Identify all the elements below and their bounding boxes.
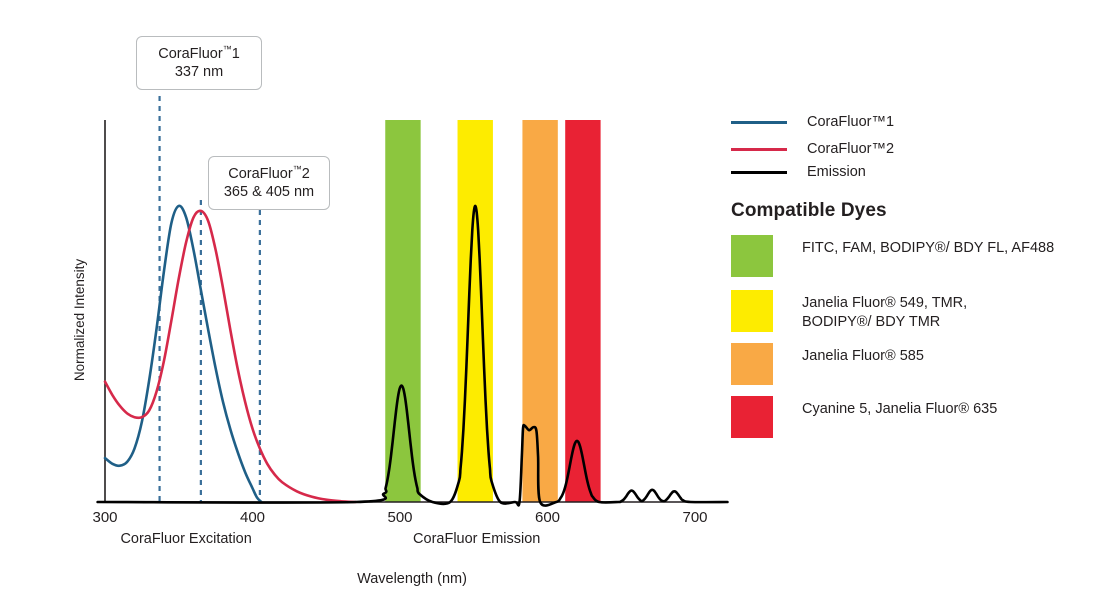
color-swatch-icon bbox=[731, 343, 773, 385]
curve-corafluor2 bbox=[105, 211, 356, 502]
legend-panel: CoraFluor™1 CoraFluor™2 Emission Compati… bbox=[728, 0, 1110, 612]
excitation-region-label: CoraFluor Excitation bbox=[120, 531, 251, 547]
dye-label-line2: BODIPY®/ BDY TMR bbox=[802, 314, 940, 330]
callout1-name: CoraFluor bbox=[158, 46, 222, 62]
legend-label-corafluor1: CoraFluor™1 bbox=[807, 114, 894, 130]
x-tick-400: 400 bbox=[240, 509, 265, 526]
compatible-dyes-title: Compatible Dyes bbox=[731, 200, 887, 222]
trademark-icon: ™ bbox=[223, 44, 232, 54]
dye-label: Janelia Fluor® 585 bbox=[802, 343, 924, 366]
y-axis-title: Normalized Intensity bbox=[72, 259, 87, 382]
red-band bbox=[565, 120, 600, 502]
callout-corafluor1: CoraFluor™1 337 nm bbox=[136, 36, 262, 90]
callout2-name: CoraFluor bbox=[228, 166, 292, 182]
legend-label-corafluor2: CoraFluor™2 bbox=[807, 141, 894, 157]
chart-svg: 300400500600700CoraFluor ExcitationCoraF… bbox=[0, 0, 740, 612]
trademark-icon: ™ bbox=[293, 164, 302, 174]
dye-label: FITC, FAM, BODIPY®/ BDY FL, AF488 bbox=[802, 235, 1054, 258]
callout-corafluor2: CoraFluor™2 365 & 405 nm bbox=[208, 156, 330, 210]
x-tick-300: 300 bbox=[92, 509, 117, 526]
color-swatch-icon bbox=[731, 235, 773, 277]
x-tick-500: 500 bbox=[387, 509, 412, 526]
callout-corafluor1-line2: 337 nm bbox=[149, 63, 249, 81]
callout-corafluor2-line2: 365 & 405 nm bbox=[221, 183, 317, 201]
figure-root: 300400500600700CoraFluor ExcitationCoraF… bbox=[0, 0, 1110, 612]
dye-row: FITC, FAM, BODIPY®/ BDY FL, AF488 bbox=[731, 235, 1054, 277]
x-tick-labels: 300400500600700 bbox=[92, 509, 707, 526]
dye-row: Janelia Fluor® 585 bbox=[731, 343, 924, 385]
legend-label-emission: Emission bbox=[807, 164, 866, 180]
color-swatch-icon bbox=[731, 396, 773, 438]
legend-line-icon bbox=[731, 121, 787, 124]
orange-band bbox=[522, 120, 557, 502]
dye-label-line1: Cyanine 5, Janelia Fluor® 635 bbox=[802, 401, 997, 417]
dye-label: Janelia Fluor® 549, TMR, BODIPY®/ BDY TM… bbox=[802, 290, 967, 332]
dye-label-line1: FITC, FAM, BODIPY®/ BDY FL, AF488 bbox=[802, 240, 1054, 256]
dye-label-line1: Janelia Fluor® 585 bbox=[802, 348, 924, 364]
green-band bbox=[385, 120, 420, 502]
legend-line-icon bbox=[731, 148, 787, 151]
callout-corafluor2-line1: CoraFluor™2 bbox=[221, 164, 317, 183]
legend-item-corafluor1: CoraFluor™1 bbox=[731, 114, 894, 130]
legend-line-icon bbox=[731, 171, 787, 174]
dye-label-line1: Janelia Fluor® 549, TMR, bbox=[802, 295, 967, 311]
emission-region-label: CoraFluor Emission bbox=[413, 531, 540, 547]
callout-corafluor1-line1: CoraFluor™1 bbox=[149, 44, 249, 63]
spectra-plot: 300400500600700CoraFluor ExcitationCoraF… bbox=[0, 0, 740, 612]
dye-row: Janelia Fluor® 549, TMR, BODIPY®/ BDY TM… bbox=[731, 290, 967, 332]
x-tick-600: 600 bbox=[535, 509, 560, 526]
dye-row: Cyanine 5, Janelia Fluor® 635 bbox=[731, 396, 997, 438]
x-axis-title: Wavelength (nm) bbox=[357, 571, 467, 587]
color-swatch-icon bbox=[731, 290, 773, 332]
callout1-number: 1 bbox=[232, 46, 240, 62]
x-tick-700: 700 bbox=[682, 509, 707, 526]
dye-label: Cyanine 5, Janelia Fluor® 635 bbox=[802, 396, 997, 419]
legend-item-emission: Emission bbox=[731, 164, 866, 180]
callout2-number: 2 bbox=[302, 166, 310, 182]
legend-item-corafluor2: CoraFluor™2 bbox=[731, 141, 894, 157]
